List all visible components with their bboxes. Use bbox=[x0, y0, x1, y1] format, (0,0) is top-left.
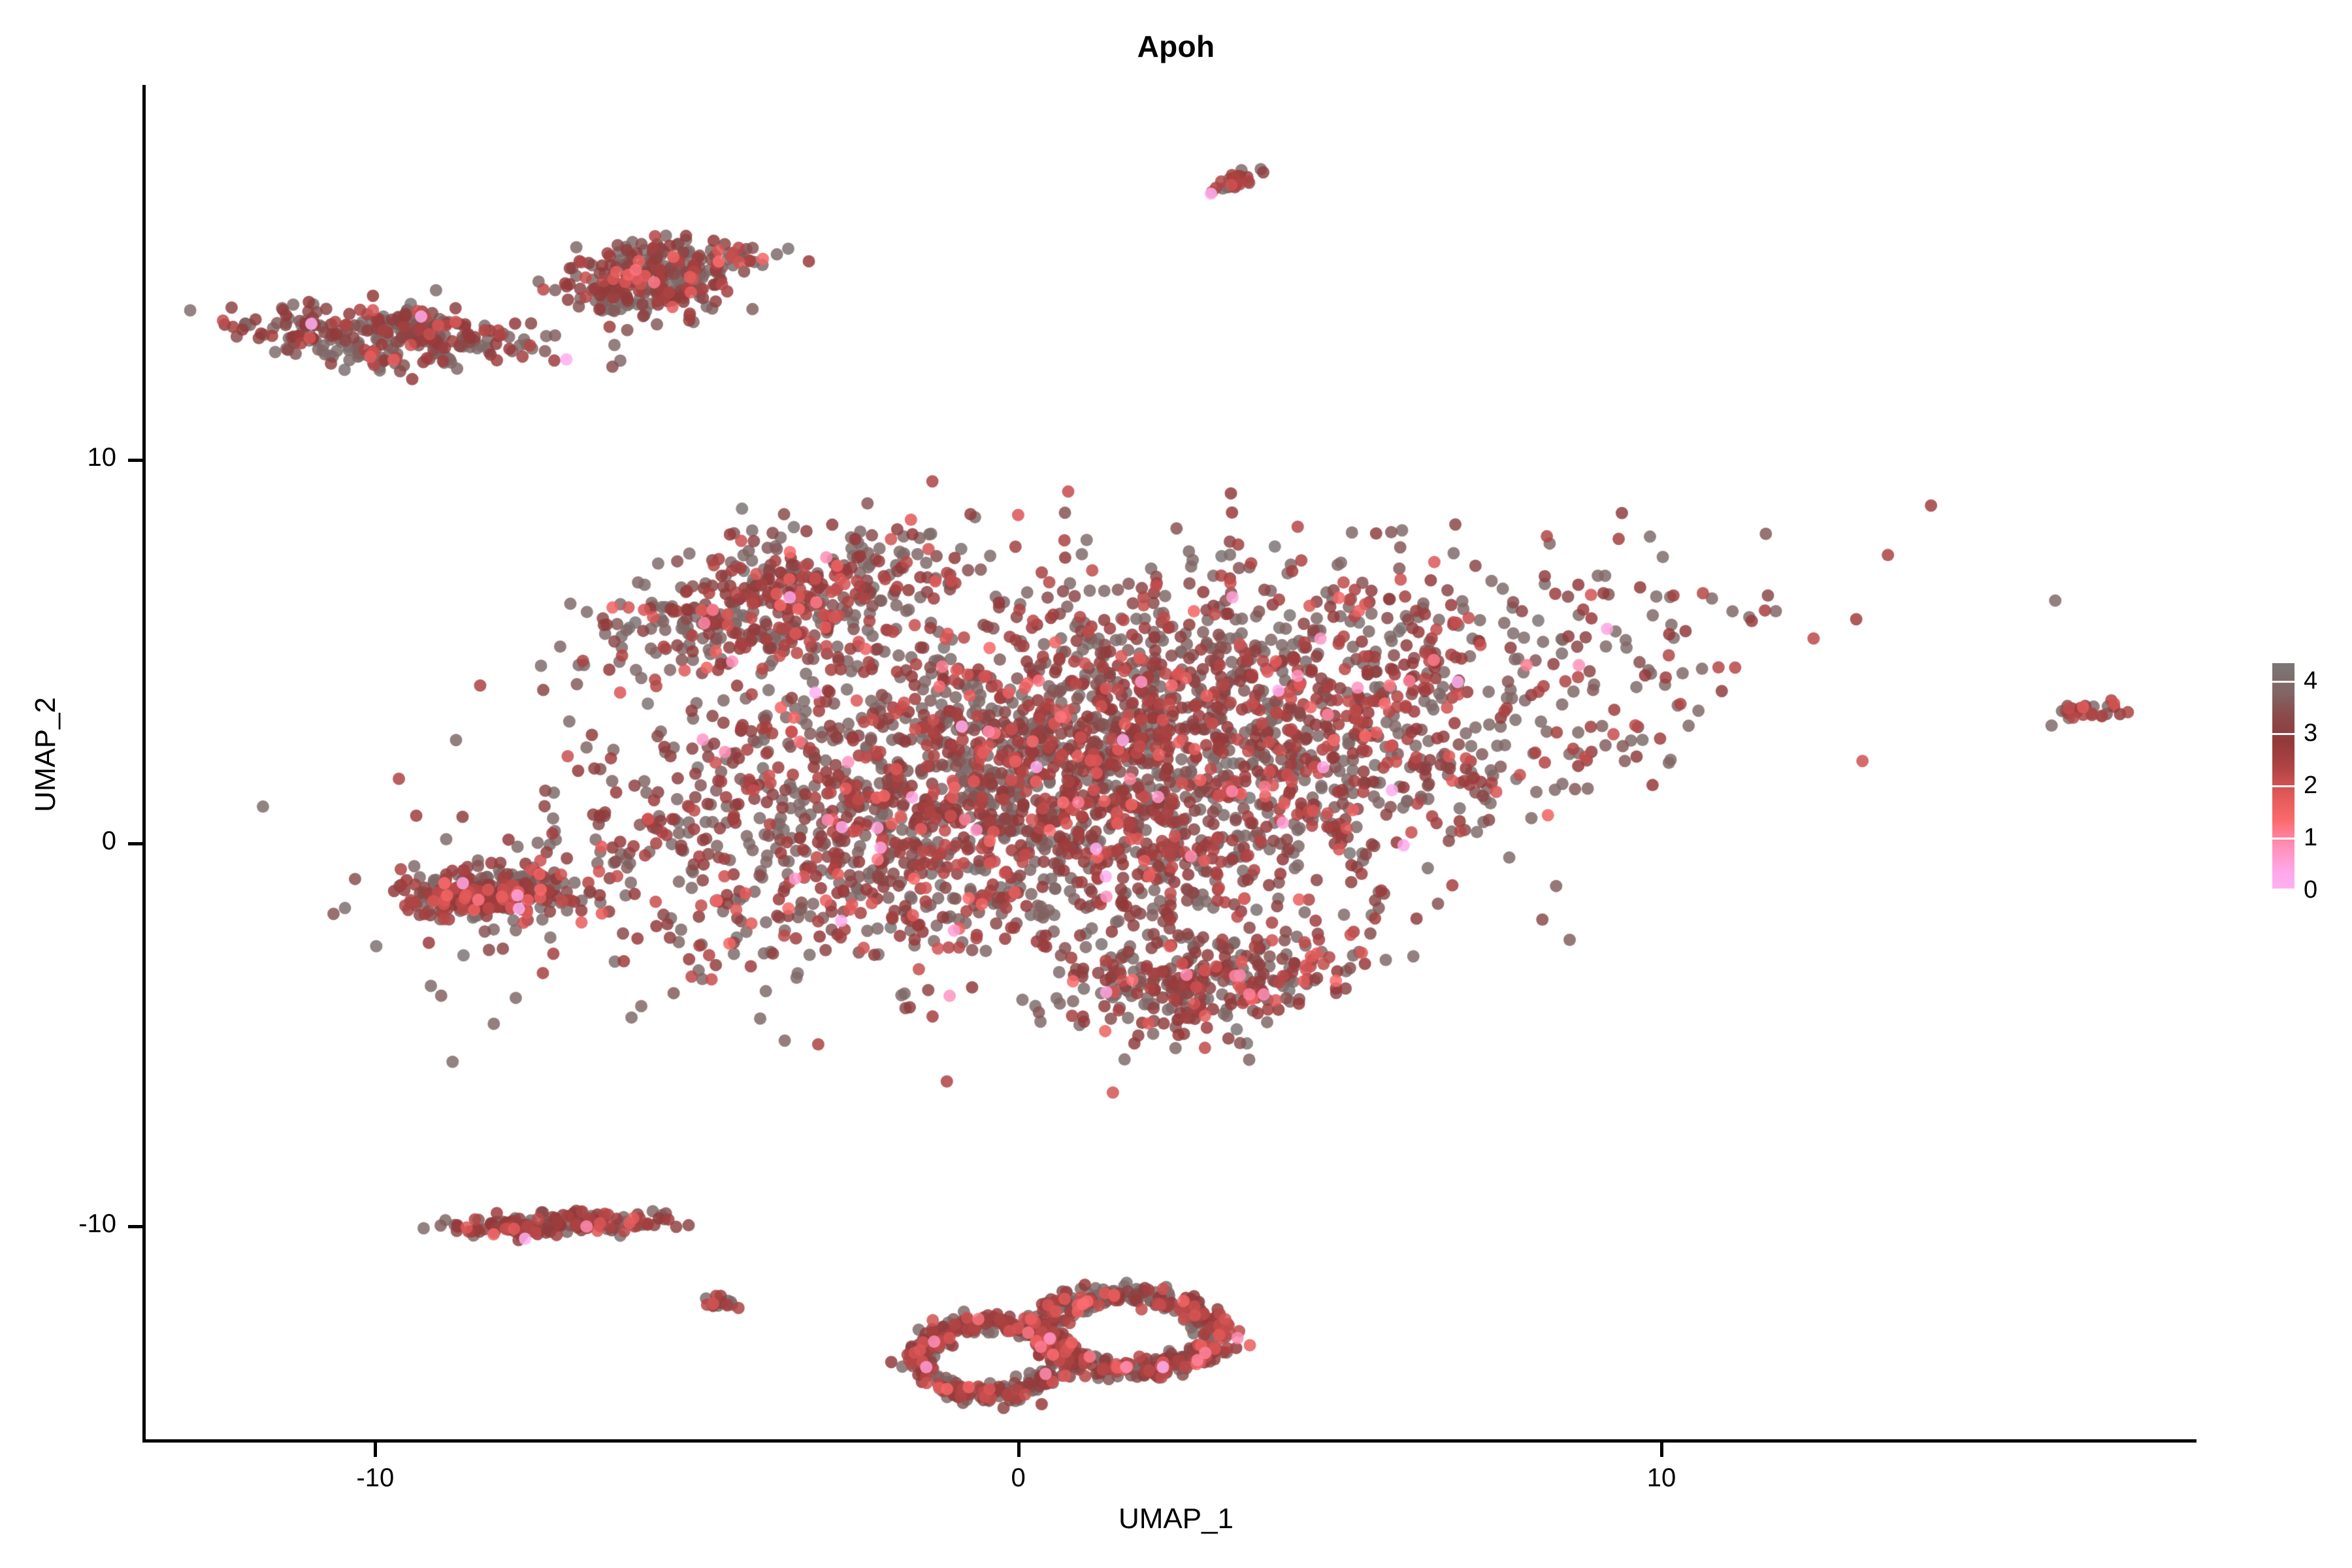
x-tick-label-1: 0 bbox=[940, 1463, 1097, 1493]
legend-label-1: 1 bbox=[2304, 825, 2317, 850]
y-tick-2 bbox=[128, 459, 142, 462]
page-title: Apoh bbox=[0, 29, 2352, 64]
x-tick-1 bbox=[1017, 1443, 1021, 1457]
y-axis-line bbox=[142, 85, 146, 1443]
y-tick-0 bbox=[128, 1225, 142, 1228]
x-tick-0 bbox=[374, 1443, 377, 1457]
y-tick-1 bbox=[128, 842, 142, 845]
x-tick-label-0: -10 bbox=[297, 1463, 453, 1493]
legend-label-0: 0 bbox=[2304, 877, 2317, 902]
x-tick-2 bbox=[1660, 1443, 1663, 1457]
legend-tick-4 bbox=[2272, 681, 2295, 683]
gradient-colorbar-icon bbox=[2272, 663, 2295, 890]
y-tick-label-2: 10 bbox=[0, 443, 116, 472]
legend-tick-1 bbox=[2272, 838, 2295, 840]
umap-feature-plot: Apoh -10010 -10010 UMAP_1 UMAP_2 01234 bbox=[0, 0, 2352, 1568]
color-legend: 01234 bbox=[2272, 663, 2351, 892]
x-axis-line bbox=[142, 1439, 2197, 1443]
legend-label-2: 2 bbox=[2304, 773, 2317, 798]
x-tick-label-2: 10 bbox=[1583, 1463, 1740, 1493]
y-tick-label-0: -10 bbox=[0, 1209, 116, 1239]
y-axis-label: UMAP_2 bbox=[29, 493, 62, 1016]
legend-tick-0 bbox=[2272, 889, 2295, 890]
legend-tick-3 bbox=[2272, 733, 2295, 735]
legend-label-4: 4 bbox=[2304, 668, 2317, 693]
scatter-plot-canvas bbox=[144, 85, 2195, 1441]
legend-label-3: 3 bbox=[2304, 721, 2317, 745]
legend-tick-2 bbox=[2272, 785, 2295, 787]
x-axis-label: UMAP_1 bbox=[0, 1503, 2352, 1535]
